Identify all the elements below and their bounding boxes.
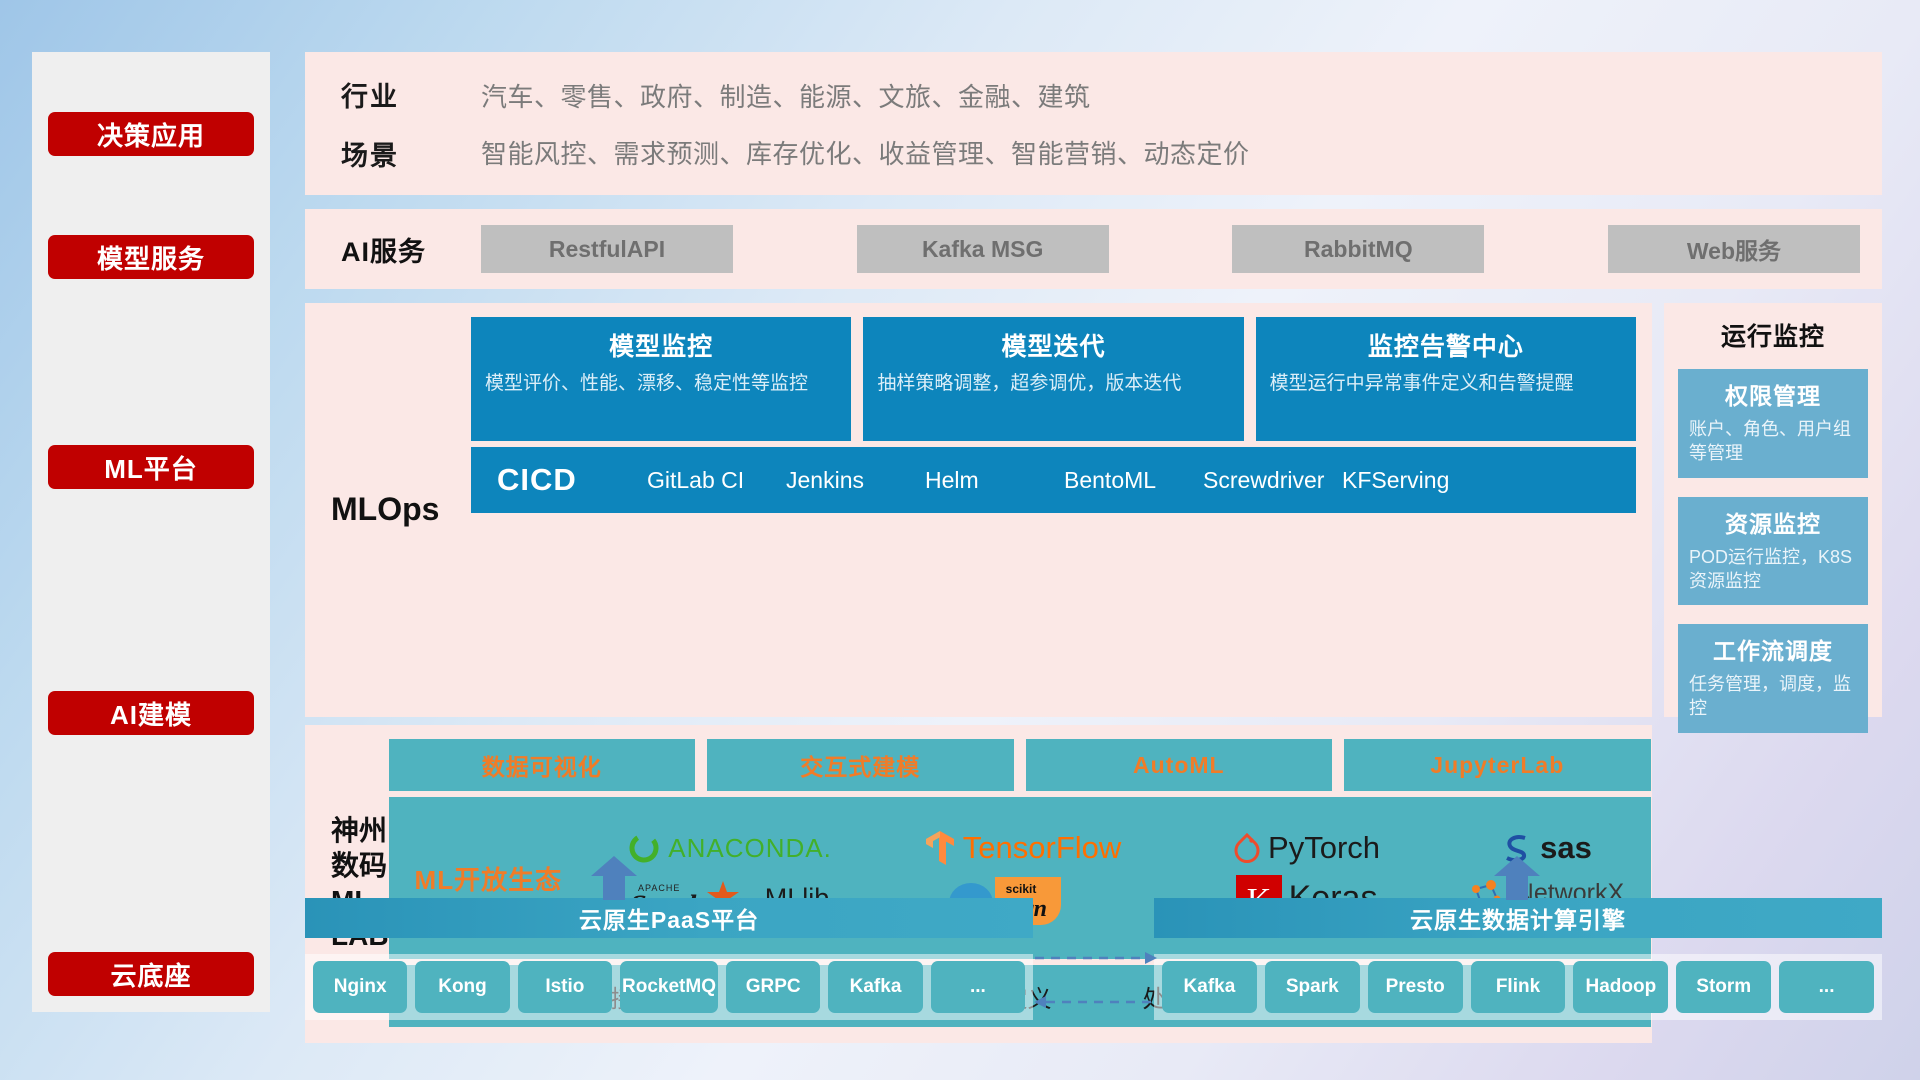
mlops-card-model-iteration[interactable]: 模型迭代 抽样策略调整，超参调优，版本迭代 xyxy=(863,317,1243,441)
paas-chip-istio[interactable]: Istio xyxy=(518,961,612,1013)
cicd-item-bentoml[interactable]: BentoML xyxy=(1064,469,1203,492)
engine-chip-presto[interactable]: Presto xyxy=(1368,961,1463,1013)
anaconda-label: ANACONDA. xyxy=(668,833,832,864)
runtime-monitor-column: 运行监控 权限管理 账户、角色、用户组等管理 资源监控 POD运行监控，K8S资… xyxy=(1664,303,1882,717)
left-rail: 决策应用 模型服务 ML平台 AI建模 云底座 xyxy=(32,52,270,1012)
mlops-block: MLOps 模型监控 模型评价、性能、漂移、稳定性等监控 模型迭代 抽样策略调整… xyxy=(305,303,1652,717)
rail-label: 模型服务 xyxy=(97,239,205,276)
rail-item-cloud-foundation[interactable]: 云底座 xyxy=(48,952,254,996)
rail-item-model-service[interactable]: 模型服务 xyxy=(48,235,254,279)
bidirectional-link-arrows-icon xyxy=(1033,945,1158,1015)
paas-chip-rocketmq[interactable]: RocketMQ xyxy=(620,961,718,1013)
tensorflow-logo: TensorFlow xyxy=(873,829,1173,867)
monitor-card-resource[interactable]: 资源监控 POD运行监控，K8S资源监控 xyxy=(1678,497,1868,606)
pytorch-label: PyTorch xyxy=(1268,830,1380,866)
engine-chip-more[interactable]: ... xyxy=(1779,961,1874,1013)
scenario-value: 智能风控、需求预测、库存优化、收益管理、智能营销、动态定价 xyxy=(481,134,1250,171)
cicd-bar: CICD GitLab CI Jenkins Helm BentoML Scre… xyxy=(471,447,1636,513)
rail-label: AI建模 xyxy=(110,695,192,732)
paas-up-arrow-icon xyxy=(591,856,637,900)
mlops-and-monitor-row: MLOps 模型监控 模型评价、性能、漂移、稳定性等监控 模型迭代 抽样策略调整… xyxy=(305,303,1882,717)
rail-label: 决策应用 xyxy=(97,116,205,153)
tab-jupyterlab[interactable]: JupyterLab xyxy=(1344,739,1651,791)
card-desc: 模型运行中异常事件定义和告警提醒 xyxy=(1270,371,1622,397)
card-title: 权限管理 xyxy=(1689,377,1857,411)
svg-text:scikit: scikit xyxy=(1005,882,1036,896)
tensorflow-label: TensorFlow xyxy=(963,830,1122,866)
apps-values: 汽车、零售、政府、制造、能源、文旅、金融、建筑 智能风控、需求预测、库存优化、收… xyxy=(481,77,1250,171)
card-title: 工作流调度 xyxy=(1689,632,1857,666)
card-desc: 抽样策略调整，超参调优，版本迭代 xyxy=(877,371,1229,397)
ai-chip-kafka-msg[interactable]: Kafka MSG xyxy=(857,225,1109,273)
paas-chip-grpc[interactable]: GRPC xyxy=(726,961,820,1013)
ai-chip-restfulapi[interactable]: RestfulAPI xyxy=(481,225,733,273)
tab-interactive-modeling[interactable]: 交互式建模 xyxy=(707,739,1014,791)
engine-chip-flink[interactable]: Flink xyxy=(1471,961,1566,1013)
mlops-card-model-monitoring[interactable]: 模型监控 模型评价、性能、漂移、稳定性等监控 xyxy=(471,317,851,441)
engine-chip-kafka[interactable]: Kafka xyxy=(1162,961,1257,1013)
runtime-monitor-title: 运行监控 xyxy=(1678,317,1868,353)
card-desc: 任务管理，调度，监控 xyxy=(1689,672,1857,721)
rail-item-ai-modeling[interactable]: AI建模 xyxy=(48,691,254,735)
paas-chip-more[interactable]: ... xyxy=(931,961,1025,1013)
apps-labels: 行业 场景 xyxy=(341,75,457,173)
ml-lab-tabs: 数据可视化 交互式建模 AutoML JupyterLab xyxy=(389,739,1651,791)
decision-apps-row: 行业 场景 汽车、零售、政府、制造、能源、文旅、金融、建筑 智能风控、需求预测、… xyxy=(305,52,1882,195)
ai-service-label: AI服务 xyxy=(341,230,471,269)
pytorch-logo: PyTorch xyxy=(1173,830,1441,866)
cicd-items: GitLab CI Jenkins Helm BentoML Screwdriv… xyxy=(647,469,1636,492)
card-title: 监控告警中心 xyxy=(1270,327,1622,363)
paas-header: 云原生PaaS平台 xyxy=(305,898,1033,938)
cicd-item-screwdriver[interactable]: Screwdriver xyxy=(1203,469,1342,492)
cicd-title: CICD xyxy=(497,462,647,498)
rail-label: 云底座 xyxy=(110,956,191,993)
cicd-item-gitlab-ci[interactable]: GitLab CI xyxy=(647,469,786,492)
mlops-cards: 模型监控 模型评价、性能、漂移、稳定性等监控 模型迭代 抽样策略调整，超参调优，… xyxy=(471,317,1636,441)
card-title: 模型迭代 xyxy=(877,327,1229,363)
engine-chip-storm[interactable]: Storm xyxy=(1676,961,1771,1013)
ml-lab-label-line1: 神州数码 xyxy=(331,813,389,883)
engine-chip-hadoop[interactable]: Hadoop xyxy=(1573,961,1668,1013)
spacer xyxy=(305,289,1882,303)
engine-chip-spark[interactable]: Spark xyxy=(1265,961,1360,1013)
industry-value: 汽车、零售、政府、制造、能源、文旅、金融、建筑 xyxy=(481,77,1250,114)
paas-chip-kong[interactable]: Kong xyxy=(415,961,509,1013)
data-engine-up-arrow-icon xyxy=(1494,856,1540,900)
card-desc: POD运行监控，K8S资源监控 xyxy=(1689,545,1857,594)
scenario-label: 场景 xyxy=(341,134,457,173)
paas-chip-kafka[interactable]: Kafka xyxy=(828,961,922,1013)
tensorflow-icon xyxy=(924,829,956,867)
sas-logo: sas xyxy=(1441,830,1651,866)
cicd-item-kfserving[interactable]: KFServing xyxy=(1342,469,1481,492)
tab-automl[interactable]: AutoML xyxy=(1026,739,1333,791)
paas-chip-nginx[interactable]: Nginx xyxy=(313,961,407,1013)
monitor-card-permission[interactable]: 权限管理 账户、角色、用户组等管理 xyxy=(1678,369,1868,478)
data-engine-header: 云原生数据计算引擎 xyxy=(1154,898,1882,938)
ai-service-row: AI服务 RestfulAPI Kafka MSG RabbitMQ Web服务 xyxy=(305,209,1882,289)
ecosystem-logo-row-1: ANACONDA. TensorFlow xyxy=(587,829,1651,867)
spacer xyxy=(305,717,1882,725)
ai-chip-rabbitmq[interactable]: RabbitMQ xyxy=(1232,225,1484,273)
ai-chip-web-service[interactable]: Web服务 xyxy=(1608,225,1860,273)
industry-label: 行业 xyxy=(341,75,457,114)
cicd-item-helm[interactable]: Helm xyxy=(925,469,1064,492)
data-engine-group: 云原生数据计算引擎 Kafka Spark Presto Flink Hadoo… xyxy=(1154,898,1882,1033)
mlops-card-alert-center[interactable]: 监控告警中心 模型运行中异常事件定义和告警提醒 xyxy=(1256,317,1636,441)
pytorch-icon xyxy=(1233,832,1261,864)
monitor-card-workflow[interactable]: 工作流调度 任务管理，调度，监控 xyxy=(1678,624,1868,733)
mlops-label: MLOps xyxy=(321,317,471,701)
rail-item-ml-platform[interactable]: ML平台 xyxy=(48,445,254,489)
paas-chip-row: Nginx Kong Istio RocketMQ GRPC Kafka ... xyxy=(305,954,1033,1020)
main-column: 行业 场景 汽车、零售、政府、制造、能源、文旅、金融、建筑 智能风控、需求预测、… xyxy=(305,52,1882,1043)
sas-label: sas xyxy=(1540,830,1592,866)
mlops-content: 模型监控 模型评价、性能、漂移、稳定性等监控 模型迭代 抽样策略调整，超参调优，… xyxy=(471,317,1636,701)
rail-item-decision-apps[interactable]: 决策应用 xyxy=(48,112,254,156)
card-desc: 模型评价、性能、漂移、稳定性等监控 xyxy=(485,371,837,397)
tab-data-visualization[interactable]: 数据可视化 xyxy=(389,739,696,791)
card-desc: 账户、角色、用户组等管理 xyxy=(1689,417,1857,466)
ml-ecosystem-title: ML开放生态 xyxy=(415,860,587,897)
ai-service-chips: RestfulAPI Kafka MSG RabbitMQ Web服务 xyxy=(481,225,1860,273)
card-title: 模型监控 xyxy=(485,327,837,363)
rail-label: ML平台 xyxy=(104,449,198,486)
cicd-item-jenkins[interactable]: Jenkins xyxy=(786,469,925,492)
paas-group: 云原生PaaS平台 Nginx Kong Istio RocketMQ GRPC… xyxy=(305,898,1033,1033)
spacer xyxy=(305,195,1882,209)
data-engine-chip-row: Kafka Spark Presto Flink Hadoop Storm ..… xyxy=(1154,954,1882,1020)
card-title: 资源监控 xyxy=(1689,505,1857,539)
